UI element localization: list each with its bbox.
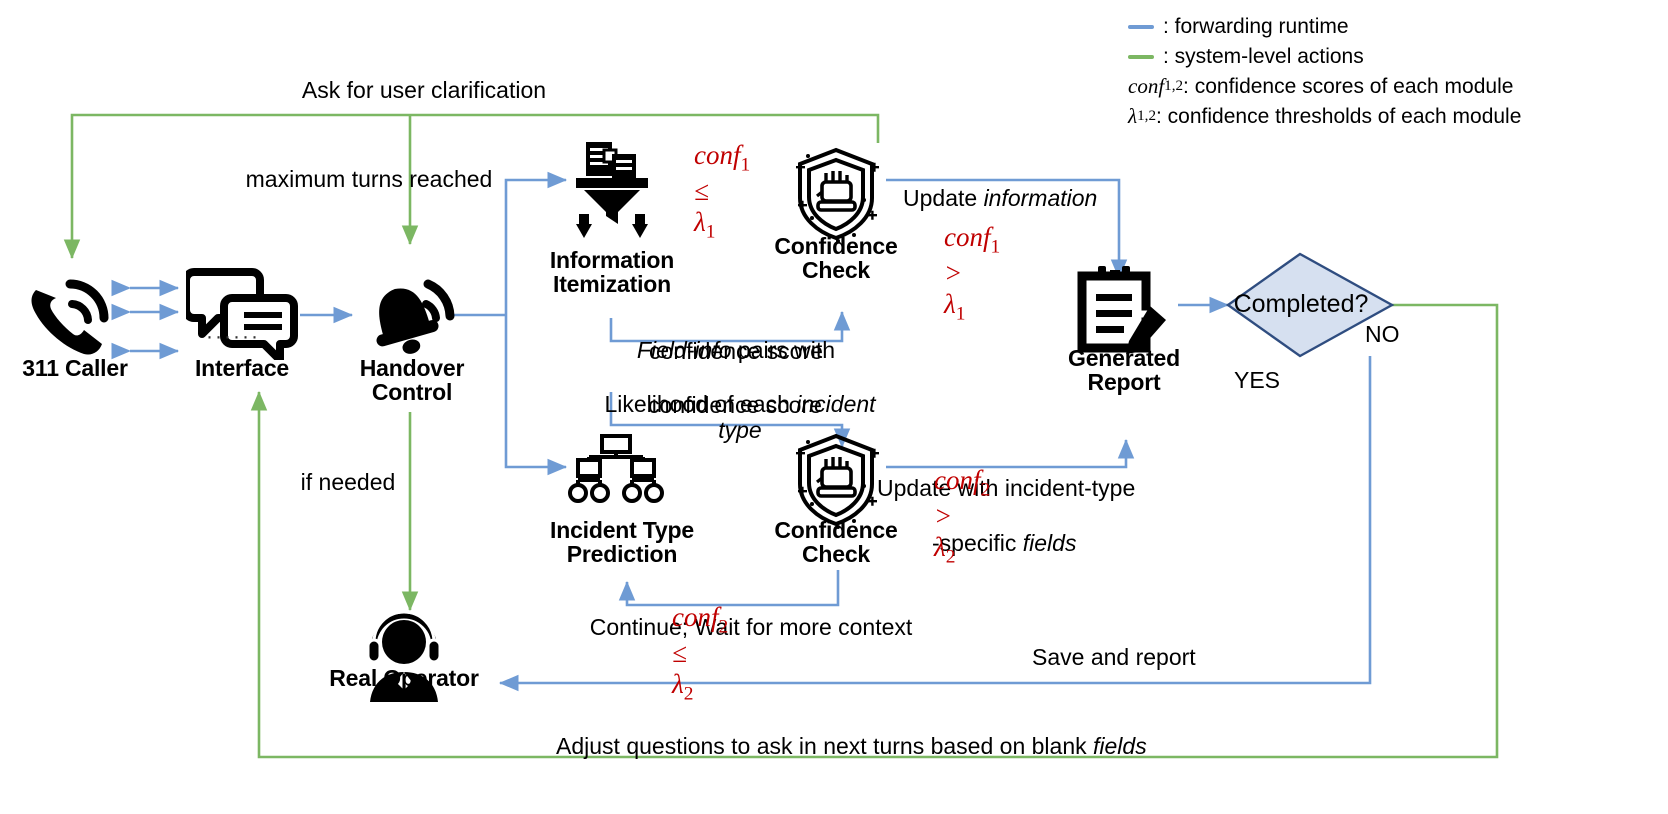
lambda-subscript: 1,2: [1137, 106, 1156, 127]
legend-swatch-green: [1128, 55, 1154, 59]
lambda-symbol: λ: [672, 669, 684, 699]
condition-conf1-gt-lambda1: conf1 > λ1: [944, 192, 1000, 325]
label-adjust-questions: Adjust questions to ask in next turns ba…: [556, 708, 1147, 760]
label-update-incident-type-line1: Update with incident-type: [877, 476, 1135, 502]
lambda-symbol: λ: [944, 289, 956, 319]
label-confidence-score-2: confidence score: [620, 393, 850, 419]
ellipsis-dots: ······: [206, 325, 260, 349]
label-if-needed: if needed: [278, 470, 418, 496]
conf-symbol: conf: [694, 140, 741, 170]
lambda-subscript: 1: [956, 303, 966, 324]
node-confidence-check-2: Confidence Check: [752, 518, 920, 567]
legend-text: : system-level actions: [1163, 42, 1364, 72]
operator: >: [944, 258, 962, 288]
conf-symbol: conf: [1128, 72, 1164, 102]
label-save-and-report: Save and report: [1032, 645, 1196, 671]
node-label: Incident Type Prediction: [524, 518, 720, 567]
node-incident-type-prediction: Incident Type Prediction: [524, 518, 720, 567]
legend-row-conf: conf1,2: confidence scores of each modul…: [1128, 72, 1521, 102]
node-label: Handover Control: [336, 356, 488, 405]
node-real-operator: Real Operator: [306, 666, 502, 690]
node-label: 311 Caller: [0, 356, 150, 380]
legend-row-system-level-actions: : system-level actions: [1128, 42, 1521, 72]
node-label: Confidence Check: [752, 234, 920, 283]
node-information-itemization: Information Itemization: [520, 248, 704, 297]
conf-subscript: 1,2: [1164, 76, 1183, 97]
flow-diagram: 311 Caller Interface Handover Control In…: [0, 0, 1668, 814]
fields-emphasis-2: fields: [1093, 733, 1147, 759]
label-confidence-score-1: confidence score: [624, 339, 848, 365]
clipboard-pencil-icon: [1072, 262, 1176, 356]
bell-ringing-icon: [356, 262, 456, 362]
lambda-symbol: λ: [934, 532, 946, 562]
lambda-subscript: 1: [706, 221, 716, 242]
node-311-caller: 311 Caller: [0, 356, 150, 380]
node-confidence-check-1: Confidence Check: [752, 234, 920, 283]
operator: ≤: [672, 638, 687, 668]
operator: ≤: [694, 176, 709, 206]
lambda-subscript: 2: [684, 683, 694, 704]
conf-symbol: conf: [934, 465, 981, 495]
conf-subscript: 2: [719, 617, 729, 638]
legend-text: : confidence scores of each module: [1183, 72, 1513, 102]
adjust-prefix: Adjust questions to ask in next turns ba…: [556, 733, 1093, 759]
information-emphasis: information: [984, 185, 1098, 211]
legend-row-lambda: λ1,2: confidence thresholds of each modu…: [1128, 102, 1521, 132]
node-interface: Interface: [172, 356, 312, 380]
lambda-symbol: λ: [694, 207, 706, 237]
documents-funnel-icon: [562, 138, 662, 242]
node-handover-control: Handover Control: [336, 356, 488, 405]
phone-ringing-icon: [22, 270, 122, 358]
node-label: Real Operator: [306, 666, 502, 690]
label-yes: YES: [1234, 368, 1280, 394]
decision-label: Completed?: [1228, 290, 1374, 319]
node-label: Generated Report: [1040, 346, 1208, 395]
conf-subscript: 1: [991, 237, 1001, 258]
node-generated-report: Generated Report: [1040, 346, 1208, 395]
shield-fist-icon: [786, 142, 886, 246]
label-ask-for-user-clarification: Ask for user clarification: [244, 78, 604, 104]
condition-conf2-le-lambda2: conf2 ≤ λ2: [672, 572, 728, 705]
conf-subscript: 1: [741, 155, 751, 176]
label-continue-wait: Continue; Wait for more context: [556, 615, 946, 641]
node-label: Interface: [172, 356, 312, 380]
conf-symbol: conf: [944, 222, 991, 252]
label-maximum-turns-reached: maximum turns reached: [204, 167, 534, 193]
conf-symbol: conf: [672, 602, 719, 632]
node-label: Confidence Check: [752, 518, 920, 567]
legend-text: : forwarding runtime: [1163, 12, 1349, 42]
legend-swatch-blue: [1128, 25, 1154, 29]
legend-row-forwarding-runtime: : forwarding runtime: [1128, 12, 1521, 42]
fields-emphasis: fields: [1023, 530, 1077, 556]
lambda-symbol: λ: [1128, 102, 1137, 132]
hierarchy-tree-icon: [566, 434, 666, 506]
lambda-subscript: 2: [946, 546, 956, 567]
condition-conf1-le-lambda1: conf1 ≤ λ1: [694, 110, 750, 243]
legend: : forwarding runtime : system-level acti…: [1128, 12, 1521, 132]
operator: >: [934, 501, 952, 531]
conf-subscript: 2: [981, 480, 991, 501]
condition-conf2-gt-lambda2: conf2 > λ2: [934, 435, 990, 568]
legend-text: : confidence thresholds of each module: [1156, 102, 1521, 132]
node-label: Information Itemization: [520, 248, 704, 297]
label-no: NO: [1365, 322, 1400, 348]
